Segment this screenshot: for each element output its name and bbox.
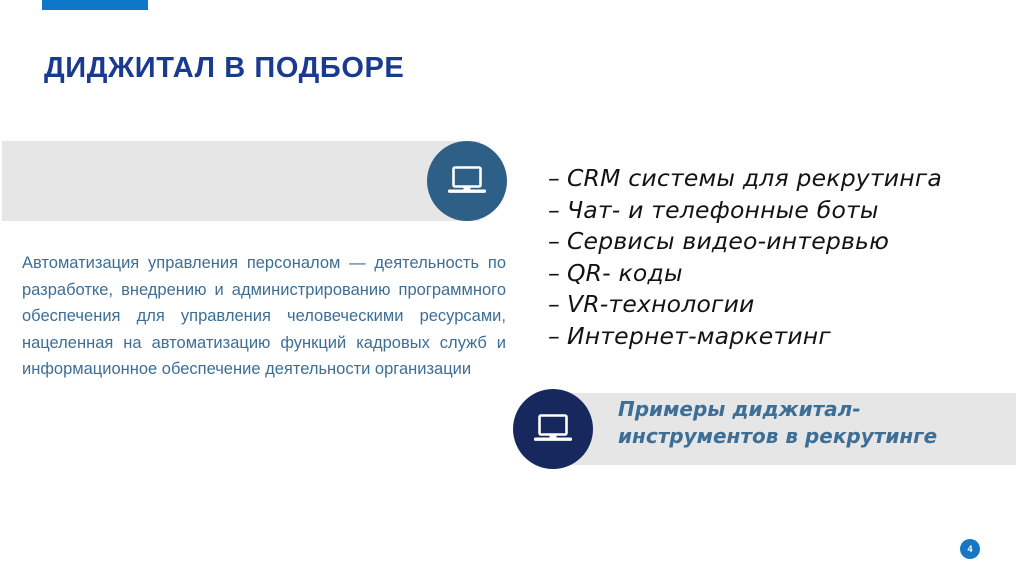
examples-caption: Примеры диджитал- инструментов в рекрути…	[618, 396, 1018, 450]
list-item-label: QR- коды	[567, 259, 683, 287]
bullet-dash: –	[548, 196, 560, 224]
list-item-label: VR-технологии	[567, 290, 755, 318]
bullet-dash: –	[548, 259, 560, 287]
list-item-label: Интернет-маркетинг	[567, 322, 831, 350]
examples-caption-line-1: Примеры диджитал-	[618, 396, 1018, 423]
accent-bar	[42, 0, 148, 10]
list-item: –QR- коды	[548, 258, 1018, 290]
examples-caption-line-2: инструментов в рекрутинге	[618, 423, 1018, 450]
list-item: –Интернет-маркетинг	[548, 321, 1018, 353]
laptop-icon	[532, 413, 574, 445]
list-item-label: Чат- и телефонные боты	[567, 196, 879, 224]
page-title: ДИДЖИТАЛ В ПОДБОРЕ	[44, 52, 744, 85]
laptop-icon	[446, 165, 488, 197]
presentation-slide: ДИДЖИТАЛ В ПОДБОРЕ Автоматизация управле…	[0, 0, 1024, 574]
lower-laptop-badge	[513, 389, 593, 469]
list-item: –CRM системы для рекрутинга	[548, 163, 1018, 195]
bullet-dash: –	[548, 227, 560, 255]
list-item-label: CRM системы для рекрутинга	[567, 164, 942, 192]
bullet-dash: –	[548, 290, 560, 318]
bullet-dash: –	[548, 322, 560, 350]
page-number-badge: 4	[960, 539, 980, 559]
definition-paragraph: Автоматизация управления персоналом — де…	[22, 250, 506, 383]
upper-grey-band	[2, 141, 480, 221]
list-item: –VR-технологии	[548, 289, 1018, 321]
list-item-label: Сервисы видео-интервью	[567, 227, 889, 255]
bullet-dash: –	[548, 164, 560, 192]
upper-laptop-badge	[427, 141, 507, 221]
list-item: –Сервисы видео-интервью	[548, 226, 1018, 258]
list-item: –Чат- и телефонные боты	[548, 195, 1018, 227]
digital-tools-list: –CRM системы для рекрутинга –Чат- и теле…	[548, 163, 1018, 352]
